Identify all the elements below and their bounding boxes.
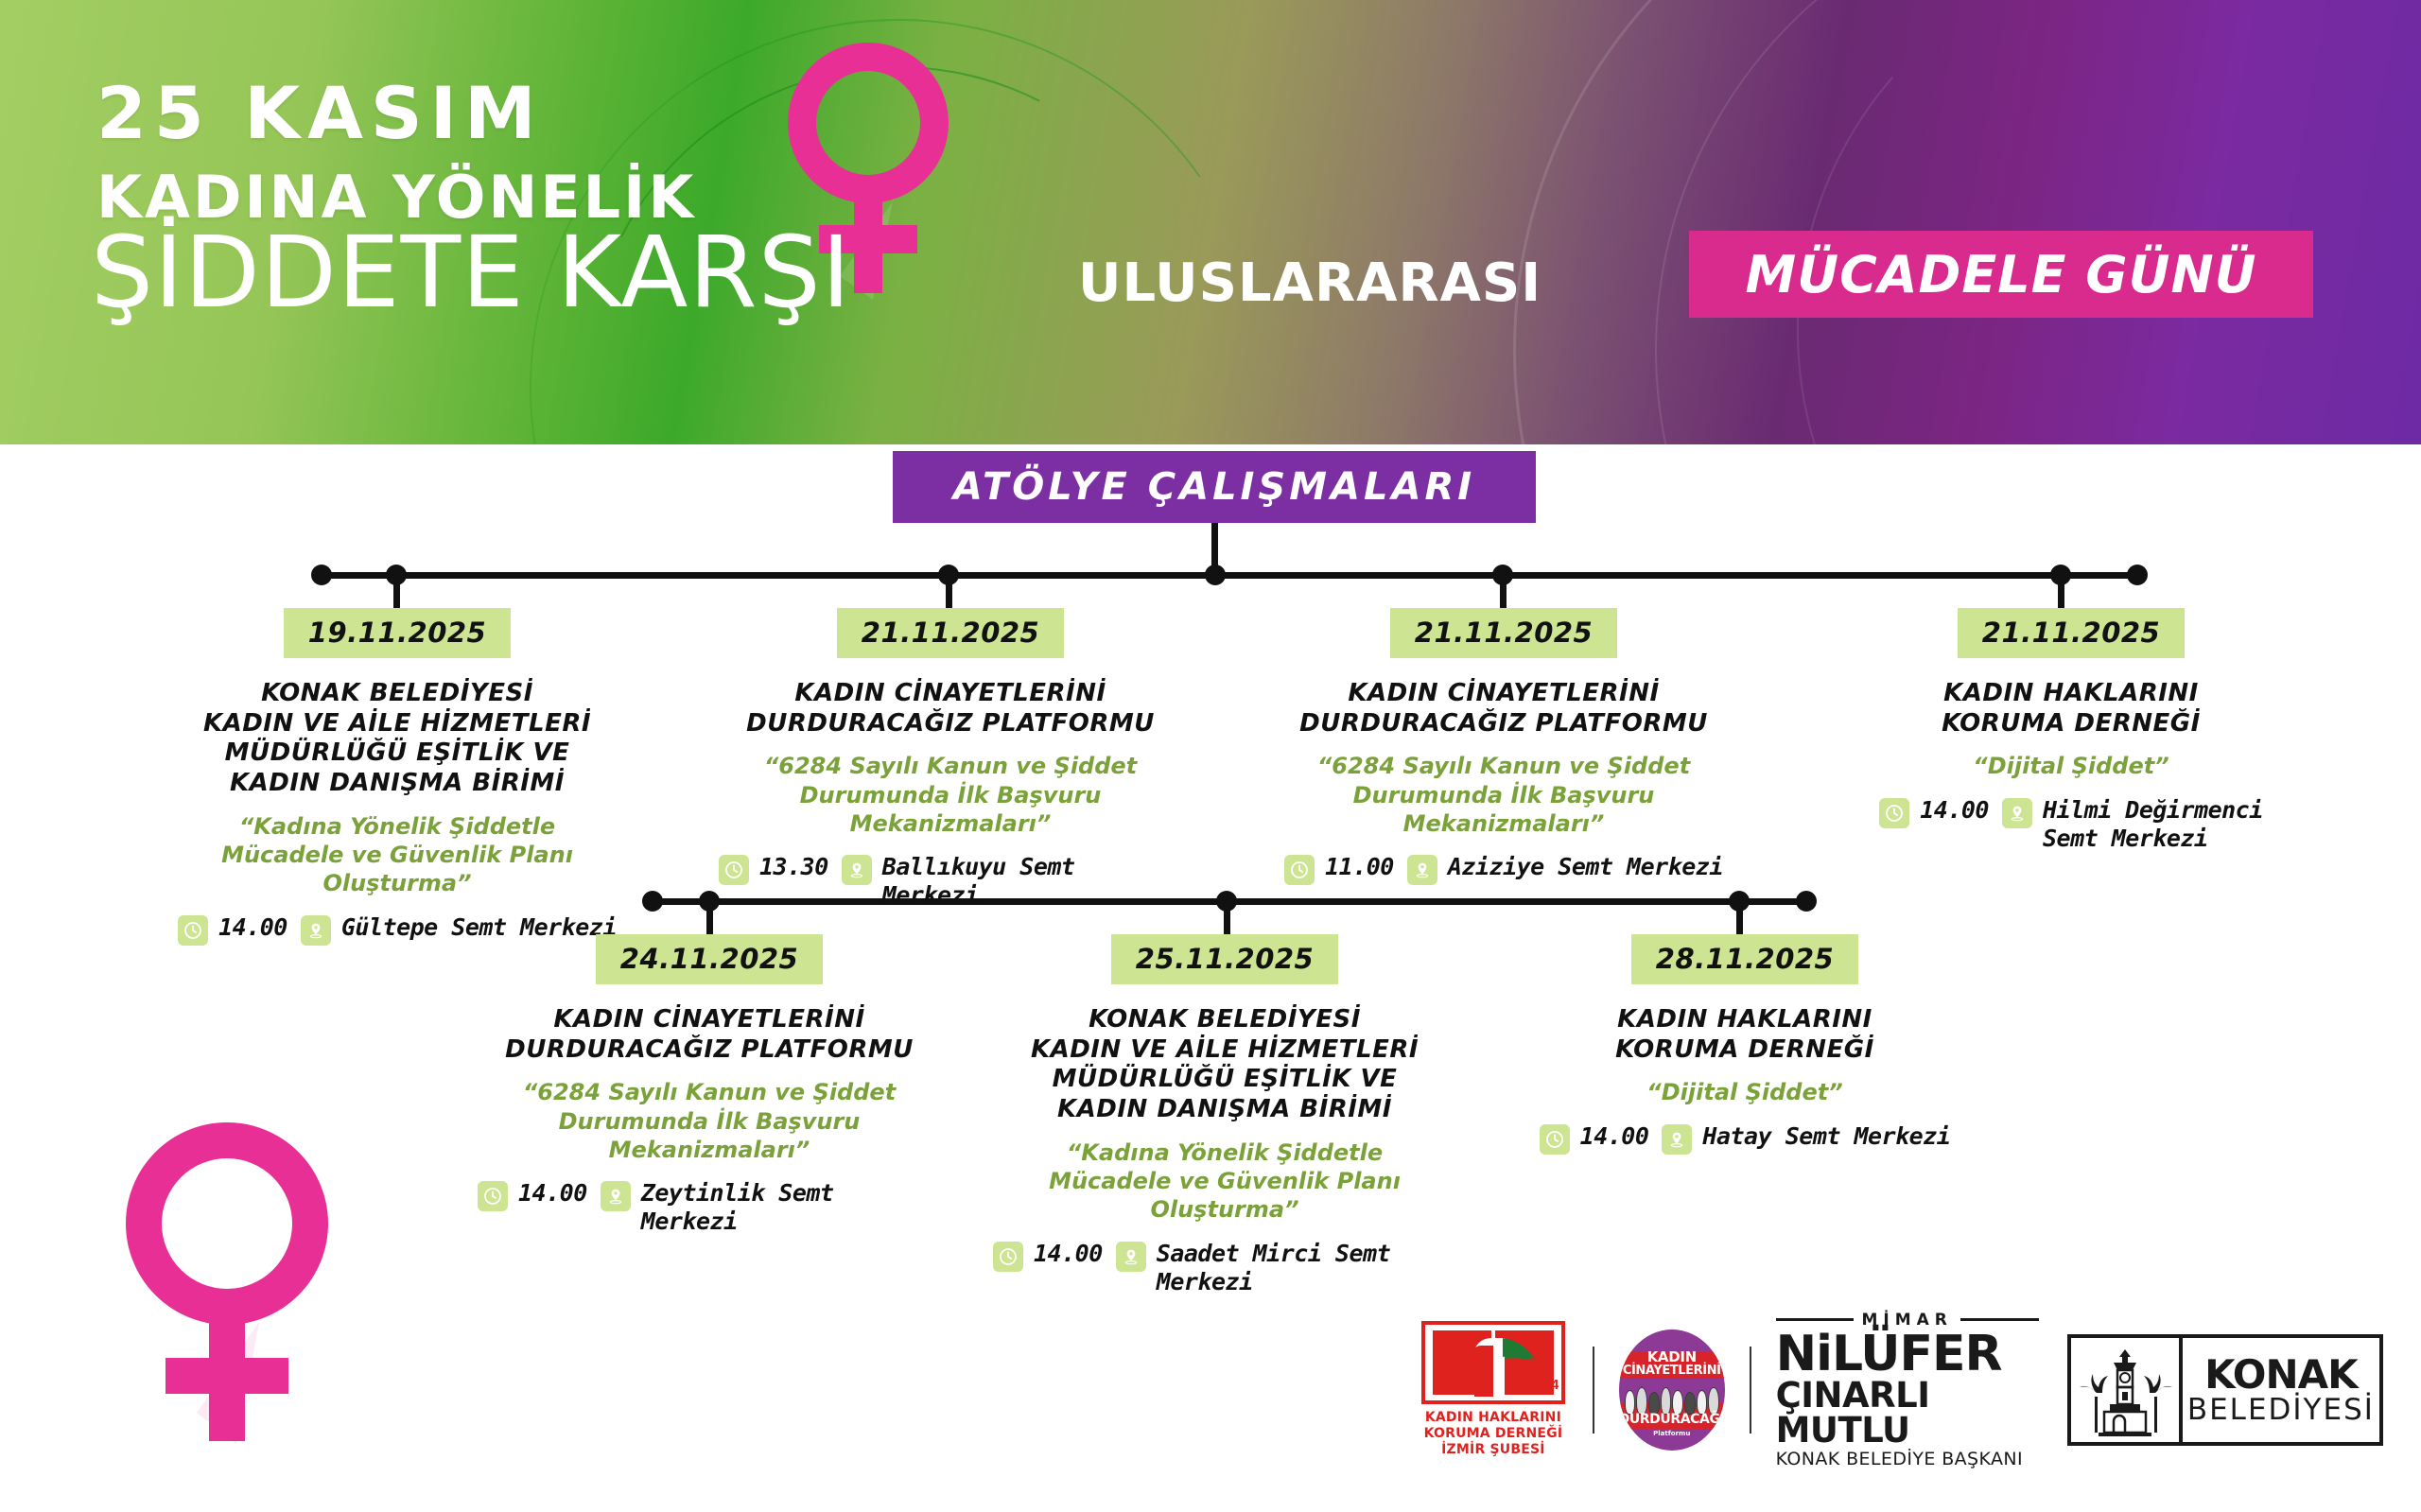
event-meta: 14.00 Saadet Mirci Semt Merkezi (993, 1240, 1456, 1296)
kcd-line-2: CİNAYETLERİNİ (1619, 1364, 1725, 1377)
nilufer-role: KONAK BELEDİYE BAŞKANI (1776, 1450, 2023, 1469)
event-venue-group: Hatay Semt Merkezi (1662, 1122, 1950, 1155)
event-time-group: 11.00 (1284, 853, 1394, 885)
timeline-drop-top-2 (946, 575, 952, 611)
konak-wordmark: KONAK BELEDİYESİ (2183, 1338, 2379, 1442)
event-venue: Zeytinlik Semt Merkezi (641, 1179, 941, 1236)
event-date-chip: 25.11.2025 (1111, 934, 1338, 984)
location-pin-icon (601, 1181, 631, 1211)
timeline-drop-bottom-3 (1736, 901, 1743, 937)
khkd-year: 1954 (1527, 1377, 1559, 1393)
event-topic: “Kadına Yönelik Şiddetle Mücadele ve Güv… (993, 1138, 1456, 1225)
header-mucadele-gunu-badge: MÜCADELE GÜNÜ (1689, 231, 2313, 318)
event-time: 11.00 (1325, 853, 1394, 881)
timeline-dot-top-end (2127, 565, 2148, 585)
clock-icon (1284, 855, 1315, 885)
timeline-drop-bottom-1 (706, 901, 713, 937)
event-time-group: 14.00 (178, 913, 287, 946)
kcd-line-3: DURDURACAĞIZ (1619, 1413, 1725, 1426)
timeline-drop-top-1 (393, 575, 400, 611)
event-meta: 14.00 Hatay Semt Merkezi (1537, 1122, 1953, 1155)
event-organizer: KADIN HAKLARINI KORUMA DERNEĞİ (1849, 679, 2293, 739)
konak-tower-box (2071, 1338, 2183, 1442)
konak-line-2: BELEDİYESİ (2187, 1395, 2375, 1426)
section-title-badge: ATÖLYE ÇALIŞMALARI (893, 451, 1536, 523)
event-time: 14.00 (518, 1179, 587, 1208)
event-topic: “Dijital Şiddet” (1537, 1078, 1953, 1106)
event-time-group: 14.00 (1540, 1122, 1649, 1155)
event-card[interactable]: 21.11.2025 KADIN CİNAYETLERİNİ DURDURACA… (719, 608, 1182, 910)
location-pin-icon (1116, 1242, 1146, 1272)
event-venue: Hatay Semt Merkezi (1702, 1122, 1950, 1151)
event-meta: 14.00 Zeytinlik Semt Merkezi (478, 1179, 941, 1236)
logo-konak-belediyesi: KONAK BELEDİYESİ (2067, 1334, 2383, 1446)
nilufer-rule-right (1960, 1318, 2039, 1321)
event-date-chip: 21.11.2025 (1390, 608, 1617, 658)
timeline-drop-top-3 (1500, 575, 1507, 611)
clock-icon (1540, 1124, 1570, 1155)
event-date-chip: 28.11.2025 (1631, 934, 1858, 984)
location-pin-icon (301, 915, 331, 946)
logo-divider (1750, 1347, 1751, 1434)
event-venue-group: Hilmi Değirmenci Semt Merkezi (2002, 796, 2263, 853)
header-title-line-3: ŞİDDETE KARŞI (91, 223, 851, 322)
khkd-label: KADIN HAKLARINI KORUMA DERNEĞİ İZMİR ŞUB… (1424, 1410, 1563, 1458)
header-mucadele-gunu-label: MÜCADELE GÜNÜ (1745, 245, 2256, 304)
timeline-line-top (322, 572, 2137, 579)
event-date-chip: 24.11.2025 (596, 934, 823, 984)
logo-nilufer-cinarli-mutlu: MİMAR NiLÜFER ÇINARLI MUTLU KONAK BELEDİ… (1776, 1311, 2039, 1469)
clock-tower-icon (2076, 1344, 2174, 1442)
event-topic: “6284 Sayılı Kanun ve Şiddet Durumunda İ… (478, 1078, 941, 1164)
logo-strip: 1954 KADIN HAKLARINI KORUMA DERNEĞİ İZMİ… (1419, 1310, 2383, 1470)
event-organizer: KADIN CİNAYETLERİNİ DURDURACAĞIZ PLATFOR… (719, 679, 1182, 739)
timeline-dot-bottom-end (1796, 891, 1817, 912)
event-date-chip: 19.11.2025 (284, 608, 511, 658)
nilufer-surname: ÇINARLI MUTLU (1776, 1378, 2039, 1448)
event-venue-group: Ballıkuyu Semt Merkezi (842, 853, 1182, 910)
timeline-dot-top-start (311, 565, 332, 585)
event-topic: “Dijital Şiddet” (1849, 752, 2293, 780)
clock-icon (1879, 798, 1909, 828)
event-venue-group: Zeytinlik Semt Merkezi (601, 1179, 941, 1236)
purple-swirl-decor-3 (1770, 0, 2421, 444)
event-organizer: KONAK BELEDİYESİ KADIN VE AİLE HİZMETLER… (161, 679, 634, 799)
kcd-line-4: Platformu (1619, 1430, 1725, 1437)
event-venue-group: Aziziye Semt Merkezi (1407, 853, 1723, 885)
clock-icon (719, 855, 749, 885)
event-organizer: KADIN HAKLARINI KORUMA DERNEĞİ (1537, 1005, 1953, 1065)
kcd-faces-illustration (1625, 1382, 1719, 1415)
location-pin-icon (1662, 1124, 1692, 1155)
event-time-group: 14.00 (1879, 796, 1989, 828)
section-title-label: ATÖLYE ÇALIŞMALARI (953, 465, 1475, 509)
event-organizer: KADIN CİNAYETLERİNİ DURDURACAĞIZ PLATFOR… (1272, 679, 1735, 739)
event-time-group: 14.00 (993, 1240, 1103, 1272)
event-card[interactable]: 25.11.2025 KONAK BELEDİYESİ KADIN VE AİL… (993, 934, 1456, 1296)
event-card[interactable]: 21.11.2025 KADIN CİNAYETLERİNİ DURDURACA… (1272, 608, 1735, 885)
venus-symbol-decor-icon (121, 1118, 348, 1449)
timeline-drop-top-4 (2058, 575, 2064, 611)
event-time: 13.30 (759, 853, 828, 881)
location-pin-icon (2002, 798, 2032, 828)
event-card[interactable]: 28.11.2025 KADIN HAKLARINI KORUMA DERNEĞ… (1537, 934, 1953, 1155)
logo-kadin-cinayetlerini-durduracagiz: KADIN CİNAYETLERİNİ DURDURACAĞIZ Platfor… (1619, 1330, 1725, 1451)
event-venue: Ballıkuyu Semt Merkezi (882, 853, 1182, 910)
event-venue: Saadet Mirci Semt Merkezi (1157, 1240, 1456, 1296)
event-organizer: KONAK BELEDİYESİ KADIN VE AİLE HİZMETLER… (993, 1005, 1456, 1125)
kcd-line-1: KADIN (1619, 1350, 1725, 1364)
header-international-label: ULUSLARARASI (1078, 257, 1541, 310)
header-title-line-1: 25 KASIM (96, 78, 544, 149)
event-time: 14.00 (218, 913, 287, 942)
event-card[interactable]: 24.11.2025 KADIN CİNAYETLERİNİ DURDURACA… (478, 934, 941, 1236)
event-time: 14.00 (1034, 1240, 1103, 1268)
clock-icon (993, 1242, 1023, 1272)
event-meta: 13.30 Ballıkuyu Semt Merkezi (719, 853, 1182, 910)
purple-swirl-decor-1 (1356, 0, 2421, 444)
poster-header: 25 KASIM KADINA YÖNELİK ŞİDDETE KARŞI UL… (0, 0, 2421, 444)
timeline-dot-bottom-start (642, 891, 663, 912)
event-card[interactable]: 21.11.2025 KADIN HAKLARINI KORUMA DERNEĞ… (1849, 608, 2293, 853)
event-organizer: KADIN CİNAYETLERİNİ DURDURACAĞIZ PLATFOR… (478, 1005, 941, 1065)
event-time: 14.00 (1920, 796, 1989, 825)
timeline-dot-top-center (1205, 565, 1226, 585)
purple-swirl-decor-2 (1595, 0, 2421, 444)
event-topic: “Kadına Yönelik Şiddetle Mücadele ve Güv… (161, 812, 634, 898)
khkd-emblem-icon: 1954 (1421, 1319, 1565, 1406)
poster-root: 25 KASIM KADINA YÖNELİK ŞİDDETE KARŞI UL… (0, 0, 2421, 1512)
event-time-group: 14.00 (478, 1179, 587, 1211)
nilufer-rule-left (1776, 1318, 1855, 1321)
event-time: 14.00 (1580, 1122, 1649, 1151)
nilufer-name: NiLÜFER (1776, 1331, 2002, 1378)
clock-icon (178, 915, 208, 946)
timeline-drop-bottom-2 (1224, 901, 1230, 937)
event-venue: Aziziye Semt Merkezi (1448, 853, 1723, 881)
clock-icon (478, 1181, 508, 1211)
event-topic: “6284 Sayılı Kanun ve Şiddet Durumunda İ… (1272, 752, 1735, 838)
event-time-group: 13.30 (719, 853, 828, 885)
event-venue: Hilmi Değirmenci Semt Merkezi (2043, 796, 2263, 853)
event-date-chip: 21.11.2025 (837, 608, 1064, 658)
event-venue-group: Saadet Mirci Semt Merkezi (1116, 1240, 1456, 1296)
location-pin-icon (1407, 855, 1437, 885)
event-card[interactable]: 19.11.2025 KONAK BELEDİYESİ KADIN VE AİL… (161, 608, 634, 946)
event-topic: “6284 Sayılı Kanun ve Şiddet Durumunda İ… (719, 752, 1182, 838)
event-meta: 11.00 Aziziye Semt Merkezi (1272, 853, 1735, 885)
konak-line-1: KONAK (2204, 1355, 2358, 1395)
logo-kadin-haklarini-koruma-dernegi: 1954 KADIN HAKLARINI KORUMA DERNEĞİ İZMİ… (1419, 1319, 1568, 1461)
location-pin-icon (842, 855, 872, 885)
event-date-chip: 21.11.2025 (1958, 608, 2185, 658)
event-meta: 14.00 Hilmi Değirmenci Semt Merkezi (1849, 796, 2293, 853)
logo-divider (1593, 1347, 1594, 1434)
